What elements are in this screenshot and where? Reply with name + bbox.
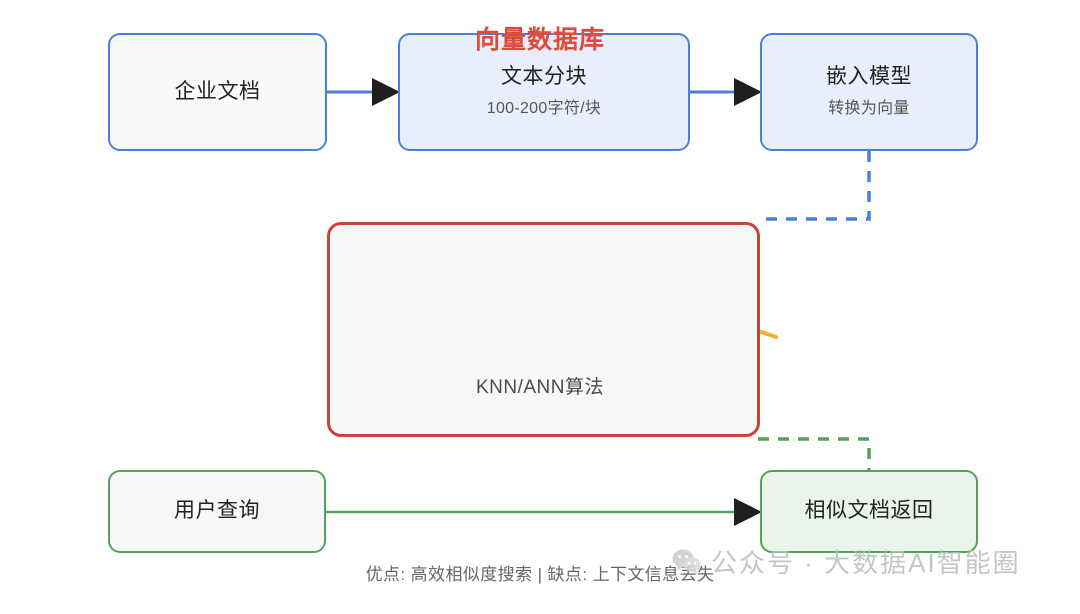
vector-database-title: 向量数据库 [0,20,1080,56]
diagram-canvas: 企业文档 文本分块 100-200字符/块 嵌入模型 转换为向量 向量数据库 K… [0,0,1080,614]
connector-embedding-to-vectordb [758,151,869,219]
node-title: 嵌入模型 [826,64,912,90]
connector-docs-to-chunking [327,78,400,106]
node-title: 用户查询 [174,498,260,524]
arrowhead-icon [372,78,400,106]
wechat-icon [672,549,702,575]
node-user-query[interactable]: 用户查询 [108,470,326,553]
node-title: 文本分块 [501,64,587,90]
watermark: 公众号 · 大数据AI智能圈 [672,543,1021,580]
knn-ann-algorithm-label: KNN/ANN算法 [0,372,1080,399]
node-similar-docs-returned[interactable]: 相似文档返回 [760,470,978,553]
node-subtitle: 转换为向量 [828,99,910,120]
arrowhead-icon [734,498,762,526]
connector-chunking-to-embedding [690,78,762,106]
node-title: 相似文档返回 [805,498,934,524]
node-subtitle: 100-200字符/块 [487,99,601,120]
vector-database-container[interactable] [327,222,760,437]
connector-vectordb-to-similar-docs [758,439,869,470]
connector-query-to-similar-docs [326,498,762,526]
node-title: 企业文档 [175,79,261,105]
arrowhead-icon [734,78,762,106]
watermark-text: 公众号 · 大数据AI智能圈 [711,543,1021,580]
